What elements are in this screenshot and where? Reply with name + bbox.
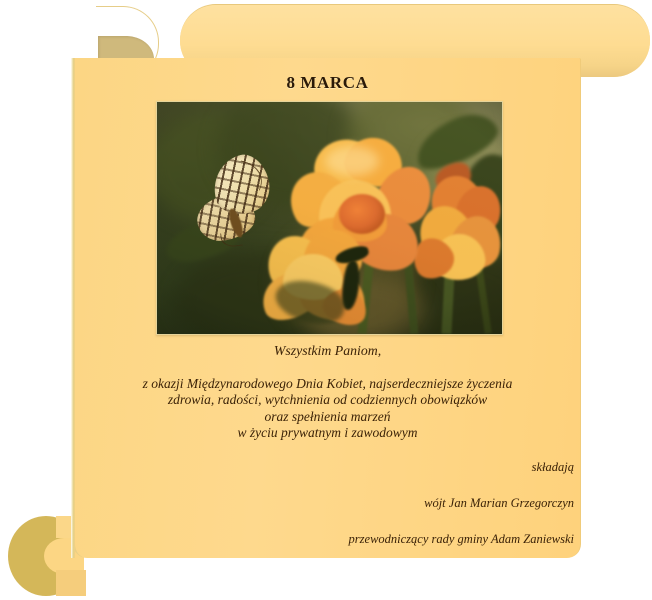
flower-photo: [157, 102, 502, 334]
butterfly-icon: [191, 156, 283, 250]
signature-intro: składają: [154, 460, 574, 475]
page-title: 8 MARCA: [75, 73, 580, 93]
greeting-card-sheet: 8 MARCA: [73, 58, 581, 558]
signature-mayor: wójt Jan Marian Grzegorczyn: [154, 496, 574, 511]
scroll-bottom-curl-lower-tab: [56, 570, 86, 596]
greeting-line-4: w życiu prywatnym i zawodowym: [75, 425, 580, 442]
butterfly-leg: [220, 231, 243, 249]
signature-council-chairman: przewodniczący rady gminy Adam Zaniewski: [154, 532, 574, 547]
greeting-salutation: Wszystkim Paniom,: [75, 344, 580, 358]
scroll-card-stage: 8 MARCA: [0, 0, 652, 600]
greeting-line-1: z okazji Międzynarodowego Dnia Kobiet, n…: [75, 376, 580, 393]
greeting-line-3: oraz spełnienia marzeń: [75, 409, 580, 426]
signature-block: składają wójt Jan Marian Grzegorczyn prz…: [154, 460, 574, 547]
greeting-text-block: Wszystkim Paniom, z okazji Międzynarodow…: [75, 344, 580, 442]
card-content: 8 MARCA: [75, 58, 580, 558]
flower-photo-frame: [156, 101, 503, 335]
greeting-line-2: zdrowia, radości, wytchnienia od codzien…: [75, 392, 580, 409]
main-flower-highlight: [325, 146, 379, 176]
